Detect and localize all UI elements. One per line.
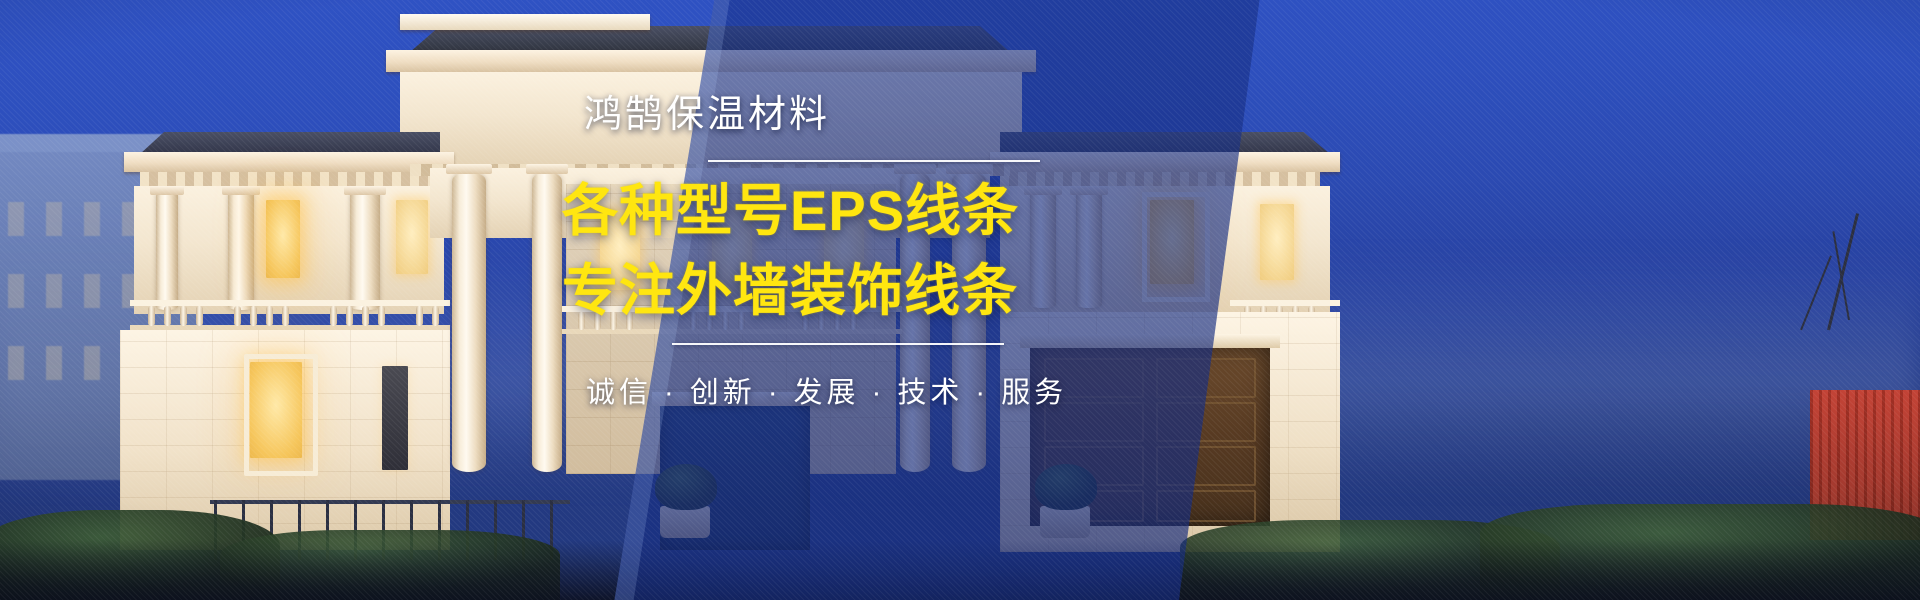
headline-line-2: 专注外墙装饰线条 [562, 260, 1276, 322]
banner-copy: 鸿鹄保温材料 各种型号EPS线条 专注外墙装饰线条 诚信 · 创新 · 发展 ·… [556, 96, 1276, 411]
company-name: 鸿鹄保温材料 [584, 96, 1276, 134]
divider-top [708, 160, 1040, 162]
tagline: 诚信 · 创新 · 发展 · 技术 · 服务 [586, 369, 1276, 411]
divider-bottom [672, 343, 1004, 345]
promo-banner: 鸿鹄保温材料 各种型号EPS线条 专注外墙装饰线条 诚信 · 创新 · 发展 ·… [0, 0, 1920, 600]
headline-line-1: 各种型号EPS线条 [562, 180, 1276, 242]
balustrade-left [130, 300, 450, 330]
